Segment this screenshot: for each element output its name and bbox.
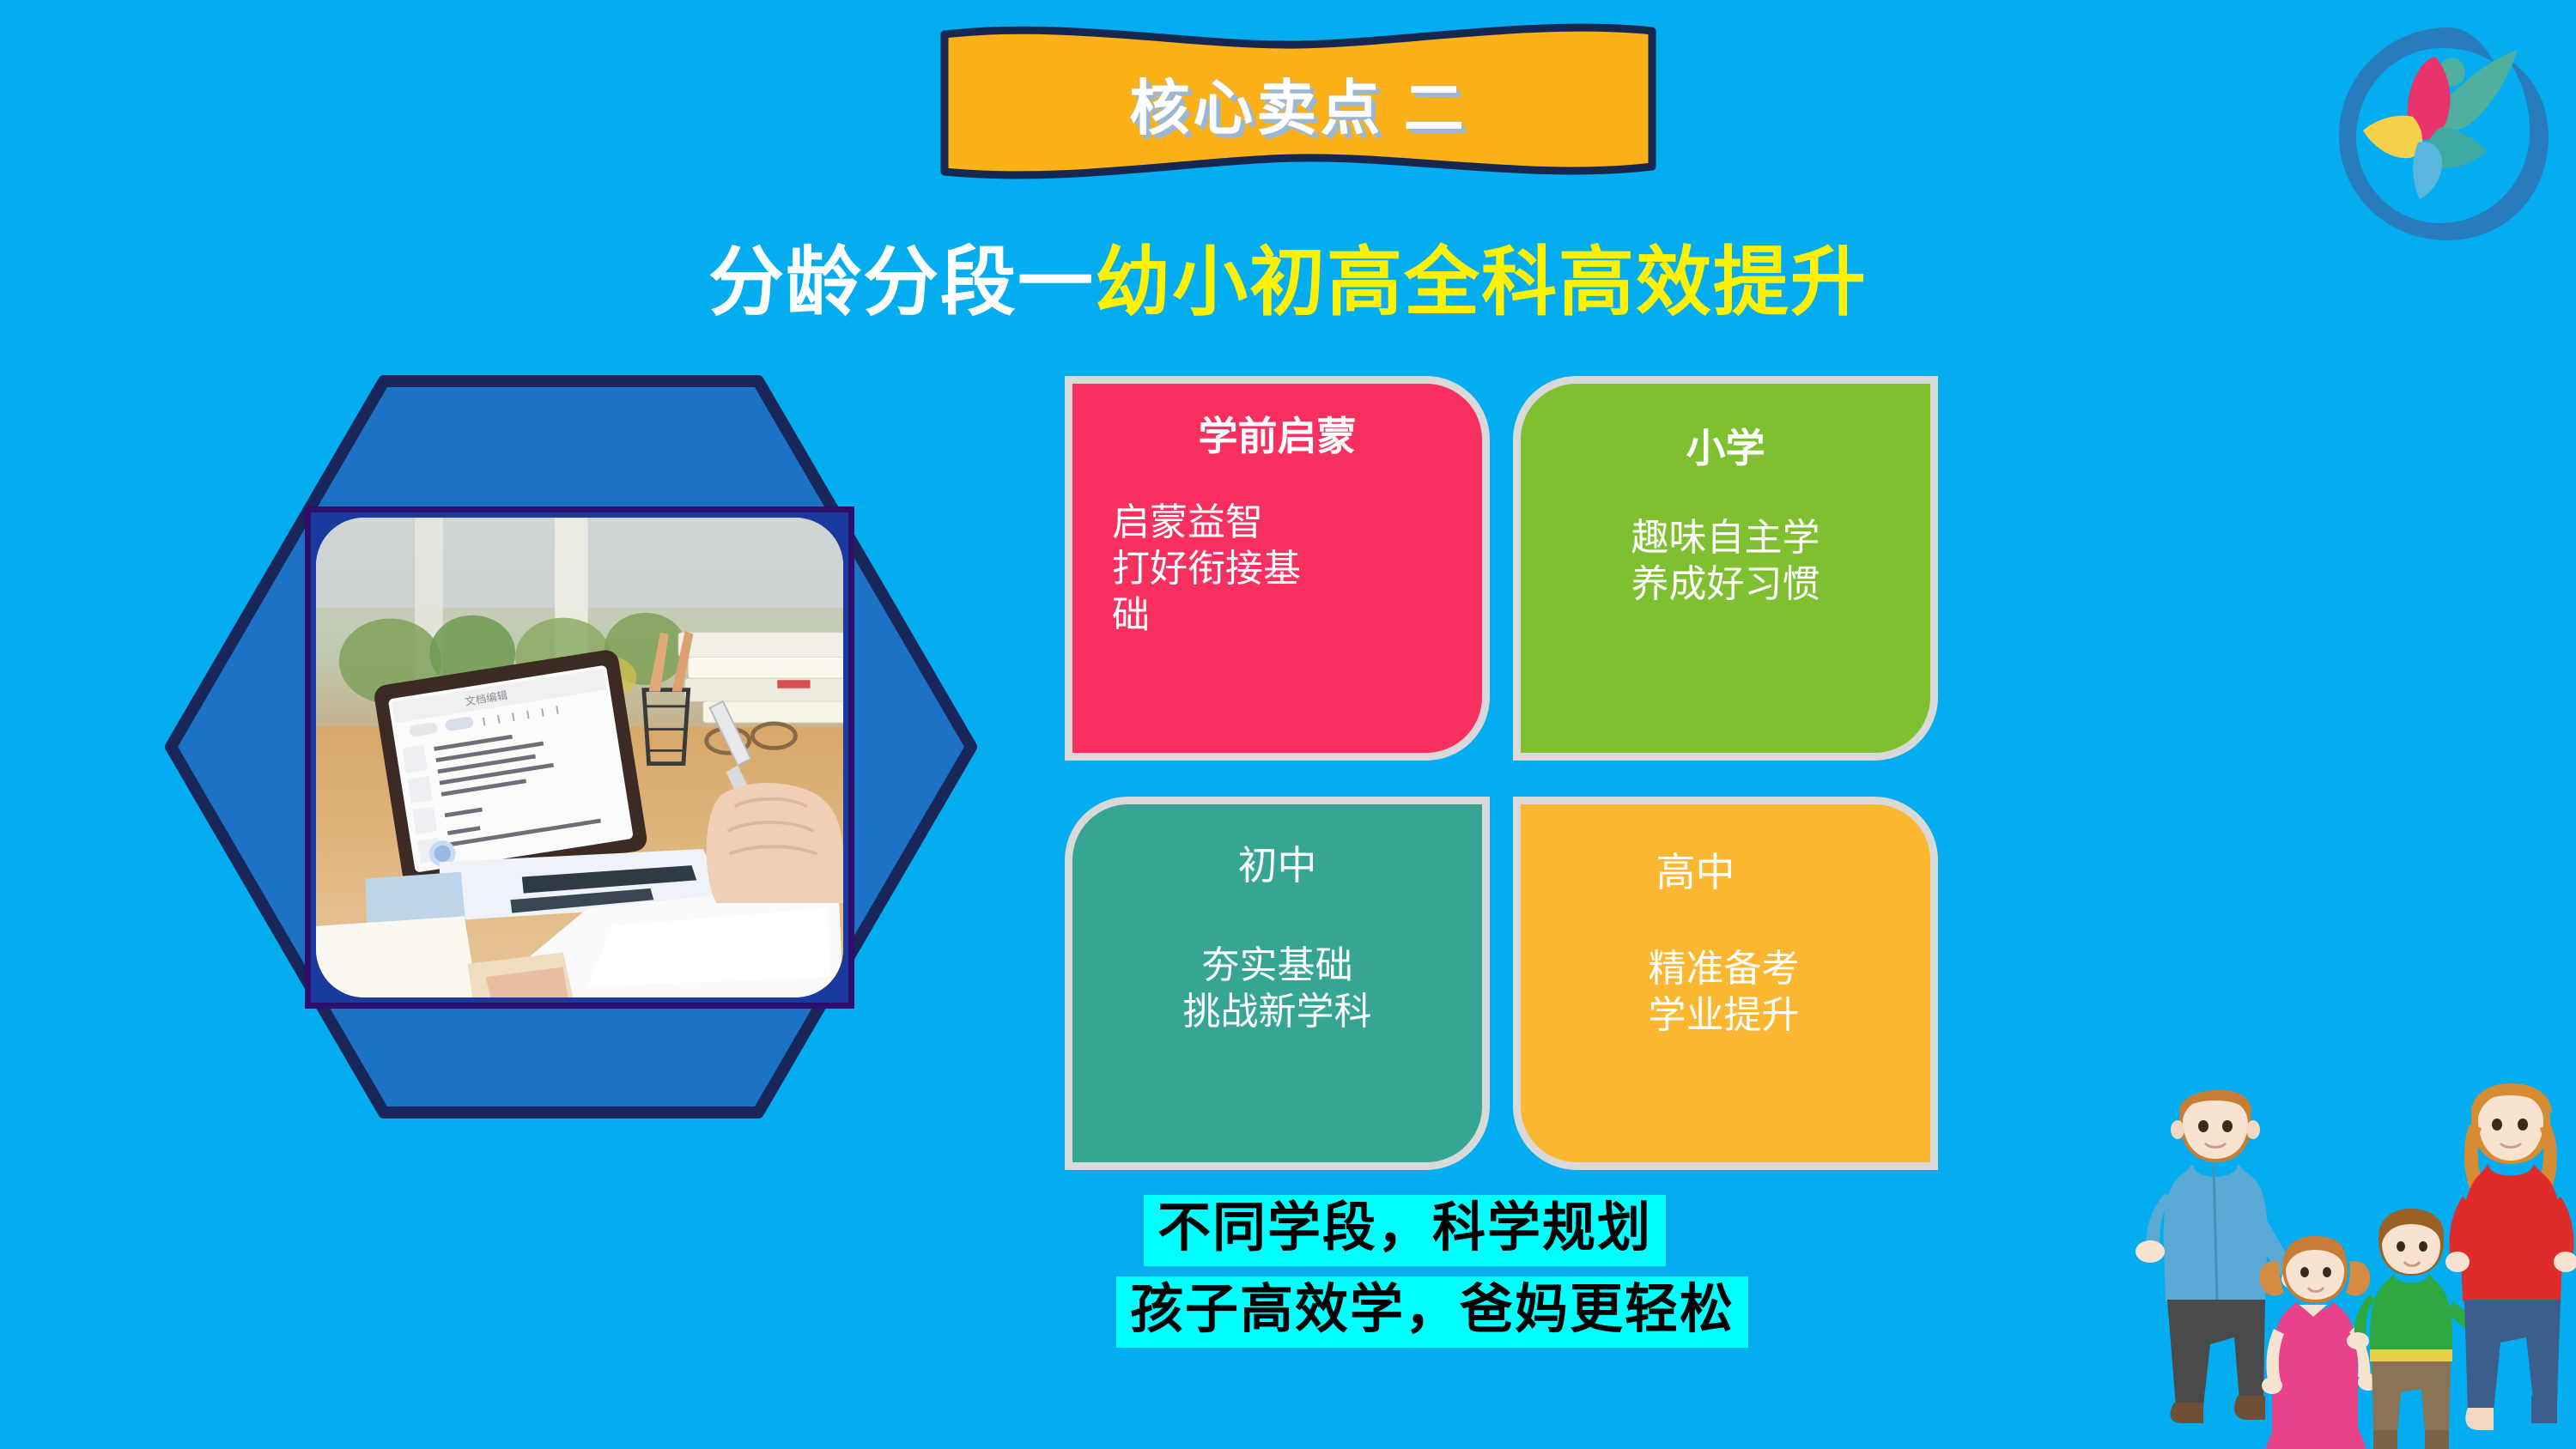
stage-card-body-line: 夯实基础 xyxy=(1095,943,1460,989)
banner-ribbon: 核心卖点 二 xyxy=(938,19,1659,184)
stage-card-title: 小学 xyxy=(1521,425,1930,472)
page-title-yellow: 幼小初高全科高效提升 xyxy=(1095,239,1868,324)
study-photo-illustration: 文档编辑 xyxy=(316,518,843,997)
stage-card-body-line: 养成好习惯 xyxy=(1543,561,1908,608)
tagline-row-2: 孩子高效学，爸妈更轻松 xyxy=(1116,1276,1889,1348)
tagline-line-2: 孩子高效学，爸妈更轻松 xyxy=(1116,1276,1748,1348)
stage-card-title: 学前启蒙 xyxy=(1072,413,1482,460)
stage-card-senior-high[interactable]: 高中 精准备考 学业提升 xyxy=(1513,797,1938,1170)
page-title: 分龄分段一幼小初高全科高效提升 xyxy=(0,221,2576,330)
tagline-row-1: 不同学段，科学规划 xyxy=(1144,1195,1889,1266)
family-illustration xyxy=(2129,1080,2576,1449)
stage-card-body-line: 挑战新学科 xyxy=(1095,989,1460,1035)
stage-card-kindergarten[interactable]: 学前启蒙 启蒙益智 打好衔接基 础 xyxy=(1065,376,1490,761)
slide-canvas: 核心卖点 二 分龄分段一幼小初高全科高效提升 xyxy=(0,0,2576,1449)
stage-card-body-line: 启蒙益智 xyxy=(1112,500,1460,546)
tagline-line-1: 不同学段，科学规划 xyxy=(1144,1195,1666,1266)
mother-figure xyxy=(2445,1083,2576,1430)
stage-card-body-line: 础 xyxy=(1112,592,1460,639)
photo-frame: 文档编辑 xyxy=(305,506,854,1009)
stage-card-body-line: 趣味自主学 xyxy=(1543,515,1908,561)
stage-card-body: 启蒙益智 打好衔接基 础 xyxy=(1072,500,1482,638)
hero-image-hexagon: 文档编辑 xyxy=(159,369,983,1125)
study-photo: 文档编辑 xyxy=(316,518,843,997)
banner-label: 核心卖点 二 xyxy=(938,60,1659,147)
stage-card-body-line: 精准备考 xyxy=(1543,946,1905,992)
page-title-white: 分龄分段一 xyxy=(708,239,1095,324)
stage-card-title: 初中 xyxy=(1072,842,1482,889)
brand-logo xyxy=(2312,7,2569,256)
logo-icon xyxy=(2312,7,2569,256)
stage-card-title: 高中 xyxy=(1521,849,1930,896)
stage-card-body: 精准备考 学业提升 xyxy=(1521,946,1930,1038)
stage-card-body-line: 打好衔接基 xyxy=(1112,546,1460,592)
cartoon-family-icon xyxy=(2129,1080,2576,1449)
stage-cards-grid: 学前启蒙 启蒙益智 打好衔接基 础 小学 趣味自主学 养成好习惯 初中 夯实基础… xyxy=(1065,376,1962,1170)
stage-card-body: 夯实基础 挑战新学科 xyxy=(1072,943,1482,1034)
stage-card-body-line: 学业提升 xyxy=(1543,992,1905,1039)
stage-card-body: 趣味自主学 养成好习惯 xyxy=(1521,515,1930,607)
stage-card-junior-high[interactable]: 初中 夯实基础 挑战新学科 xyxy=(1065,797,1490,1170)
stage-card-primary[interactable]: 小学 趣味自主学 养成好习惯 xyxy=(1513,376,1938,761)
tagline-block: 不同学段，科学规划 孩子高效学，爸妈更轻松 xyxy=(1116,1195,1889,1348)
